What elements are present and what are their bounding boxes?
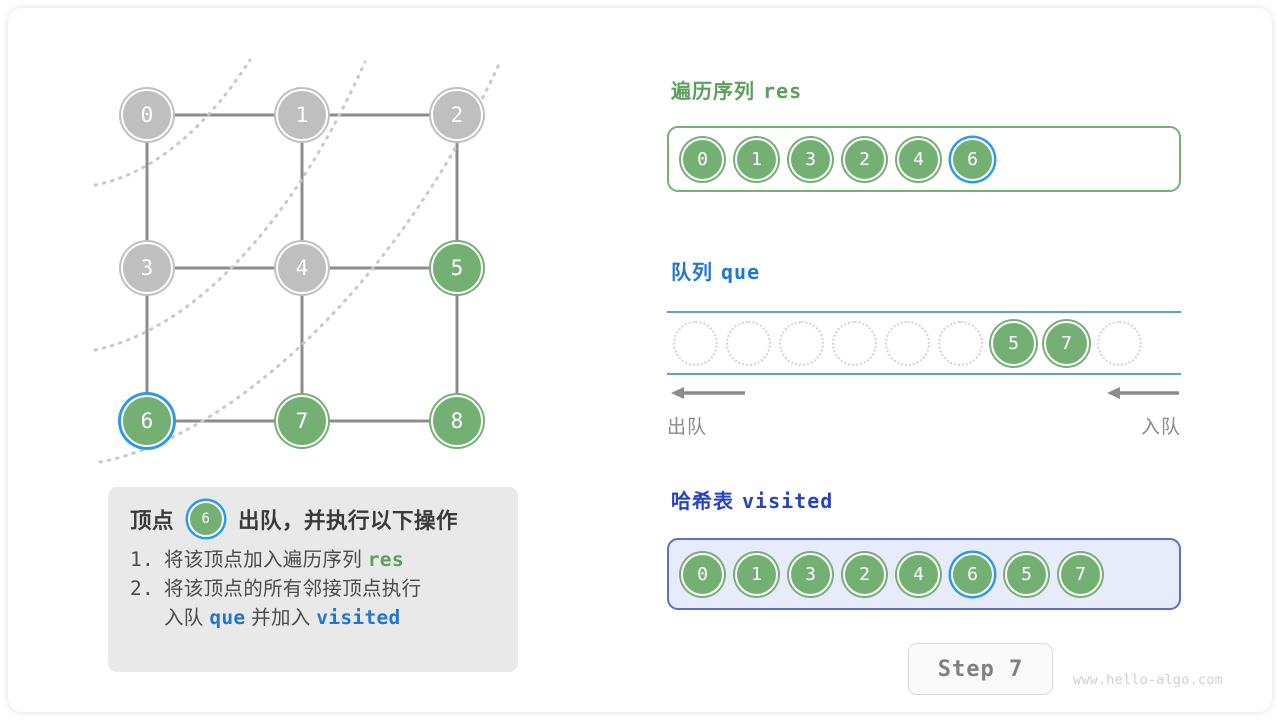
caption-box: 顶点 6 出队，并执行以下操作 1. 将该顶点加入遍历序列 res 2. 将该顶… bbox=[108, 487, 518, 672]
visited-cell-2[interactable]: 3 bbox=[789, 553, 832, 596]
visited-cell-0[interactable]: 0 bbox=[681, 553, 724, 596]
res-cell-1[interactable]: 1 bbox=[735, 138, 778, 181]
visited-cell-7[interactable]: 7 bbox=[1059, 553, 1102, 596]
caption-item-2-line2-before: 入队 bbox=[164, 607, 204, 629]
queue-cell-6[interactable]: 5 bbox=[991, 321, 1036, 366]
enqueue-label: 入队 bbox=[1141, 412, 1181, 439]
wavefront-curve-1 bbox=[95, 60, 250, 185]
visited-section-title: 哈希表visited bbox=[671, 485, 833, 514]
caption-head-suffix: 出队，并执行以下操作 bbox=[238, 504, 458, 535]
visited-cell-4[interactable]: 4 bbox=[897, 553, 940, 596]
queue-cell-0[interactable] bbox=[673, 321, 718, 366]
caption-item-1-text: 将该顶点加入遍历序列 bbox=[164, 549, 362, 571]
queue-cell-3[interactable] bbox=[832, 321, 877, 366]
que-section-title: 队列que bbox=[671, 256, 760, 285]
graph-node-3[interactable]: 3 bbox=[121, 242, 173, 294]
res-array-container: 013246 bbox=[667, 126, 1181, 192]
graph-node-5[interactable]: 5 bbox=[431, 242, 483, 294]
graph-node-4[interactable]: 4 bbox=[276, 242, 328, 294]
queue-cell-8[interactable] bbox=[1097, 321, 1142, 366]
queue-direction-labels: 出队 入队 bbox=[667, 412, 1181, 439]
res-cell-2[interactable]: 3 bbox=[789, 138, 832, 181]
queue-cell-5[interactable] bbox=[938, 321, 983, 366]
res-title-code: res bbox=[763, 79, 802, 103]
caption-heading: 顶点 6 出队，并执行以下操作 bbox=[130, 501, 498, 537]
visited-cell-1[interactable]: 1 bbox=[735, 553, 778, 596]
caption-item-2-code-visited: visited bbox=[316, 606, 400, 629]
res-cell-3[interactable]: 2 bbox=[843, 138, 886, 181]
que-title-code: que bbox=[721, 260, 760, 284]
dequeue-arrow-head bbox=[671, 387, 684, 399]
res-title-cn: 遍历序列 bbox=[671, 81, 755, 103]
queue-cell-2[interactable] bbox=[779, 321, 824, 366]
caption-item-1-code: res bbox=[368, 548, 404, 571]
caption-item-2-body: 将该顶点的所有邻接顶点执行 入队 que 并加入 visited bbox=[164, 575, 498, 633]
visited-cell-3[interactable]: 2 bbox=[843, 553, 886, 596]
queue-container: 57 bbox=[667, 311, 1181, 375]
enqueue-arrow-head bbox=[1107, 387, 1120, 399]
que-title-cn: 队列 bbox=[671, 262, 713, 284]
graph-node-0[interactable]: 0 bbox=[121, 89, 173, 141]
res-cell-4[interactable]: 4 bbox=[897, 138, 940, 181]
caption-item-2: 2. 将该顶点的所有邻接顶点执行 入队 que 并加入 visited bbox=[130, 575, 498, 633]
graph-node-2[interactable]: 2 bbox=[431, 89, 483, 141]
queue-cell-1[interactable] bbox=[726, 321, 771, 366]
visited-title-cn: 哈希表 bbox=[671, 491, 734, 513]
graph-node-1[interactable]: 1 bbox=[276, 89, 328, 141]
visited-cell-5[interactable]: 6 bbox=[951, 553, 994, 596]
visited-set-container: 01324657 bbox=[667, 538, 1181, 610]
queue-arrows bbox=[667, 382, 1181, 404]
caption-item-2-line2-mid: 并加入 bbox=[251, 607, 310, 629]
bfs-visualization-canvas: 012345678 顶点 6 出队，并执行以下操作 1. 将该顶点加入遍历序列 … bbox=[0, 0, 1280, 720]
res-section-title: 遍历序列res bbox=[671, 75, 802, 104]
caption-vertex-chip: 6 bbox=[188, 501, 224, 537]
caption-head-prefix: 顶点 bbox=[130, 504, 174, 535]
queue-cell-4[interactable] bbox=[885, 321, 930, 366]
dequeue-label: 出队 bbox=[667, 412, 707, 439]
visited-cell-6[interactable]: 5 bbox=[1005, 553, 1048, 596]
graph-node-8[interactable]: 8 bbox=[431, 395, 483, 447]
watermark: www.hello-algo.com bbox=[1073, 672, 1223, 688]
visited-title-code: visited bbox=[742, 489, 833, 513]
graph-node-7[interactable]: 7 bbox=[276, 395, 328, 447]
caption-item-2-number: 2. bbox=[130, 575, 164, 633]
res-cell-0[interactable]: 0 bbox=[681, 138, 724, 181]
caption-item-1: 1. 将该顶点加入遍历序列 res bbox=[130, 546, 498, 575]
caption-item-1-body: 将该顶点加入遍历序列 res bbox=[164, 546, 498, 575]
queue-cell-7[interactable]: 7 bbox=[1044, 321, 1089, 366]
step-badge: Step 7 bbox=[908, 643, 1053, 695]
caption-item-2-text: 将该顶点的所有邻接顶点执行 bbox=[164, 578, 421, 600]
res-cell-5[interactable]: 6 bbox=[951, 138, 994, 181]
caption-item-1-number: 1. bbox=[130, 546, 164, 575]
caption-item-2-code-que: que bbox=[209, 606, 245, 629]
graph-node-6[interactable]: 6 bbox=[121, 395, 173, 447]
